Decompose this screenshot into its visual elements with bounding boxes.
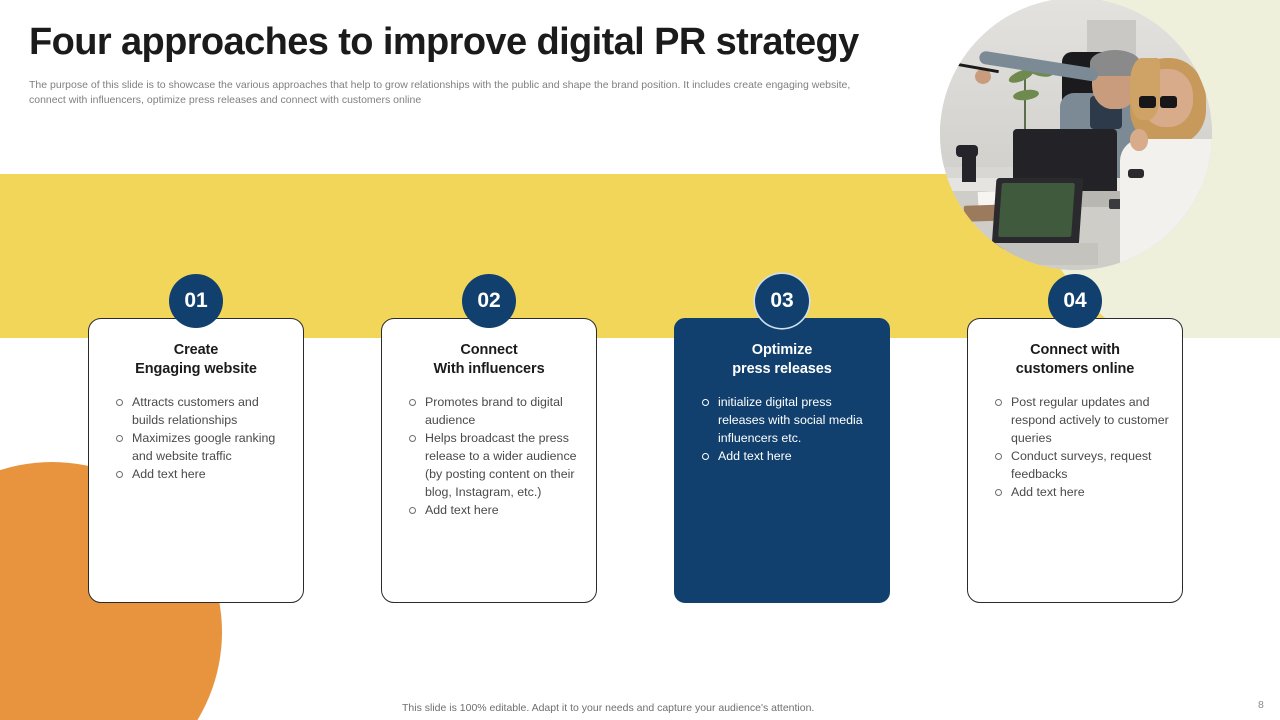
card-title-line1: Optimize — [752, 342, 812, 358]
card-body[interactable]: Connect With influencers Promotes brand … — [381, 318, 597, 603]
card-body[interactable]: Optimize press releases initialize digit… — [674, 318, 890, 603]
card-body[interactable]: Connect with customers online Post regul… — [967, 318, 1183, 603]
card-title-line2: With influencers — [433, 361, 544, 377]
approach-card-1[interactable]: 01 Create Engaging website Attracts cust… — [88, 274, 304, 604]
card-title: Connect With influencers — [394, 341, 584, 379]
list-item: Helps broadcast the press release to a w… — [408, 429, 584, 501]
card-title: Create Engaging website — [101, 341, 291, 379]
card-title-line2: customers online — [1016, 361, 1134, 377]
list-item: Post regular updates and respond activel… — [994, 393, 1170, 447]
card-bullet-list: Post regular updates and respond activel… — [980, 393, 1170, 501]
page-title: Four approaches to improve digital PR st… — [29, 21, 909, 64]
card-title-line2: Engaging website — [135, 361, 257, 377]
list-item: initialize digital press releases with s… — [701, 393, 877, 447]
card-title: Optimize press releases — [687, 341, 877, 379]
list-item: Conduct surveys, request feedbacks — [994, 447, 1170, 483]
card-title: Connect with customers online — [980, 341, 1170, 379]
approach-card-3[interactable]: 03 Optimize press releases initialize di… — [674, 274, 890, 604]
card-number-badge: 02 — [462, 274, 516, 328]
card-number-badge: 04 — [1048, 274, 1102, 328]
footer-note: This slide is 100% editable. Adapt it to… — [402, 702, 814, 714]
card-bullet-list: Promotes brand to digital audience Helps… — [394, 393, 584, 519]
slide-canvas: Four approaches to improve digital PR st… — [0, 0, 1280, 720]
card-number-badge: 01 — [169, 274, 223, 328]
page-subtitle: The purpose of this slide is to showcase… — [29, 78, 879, 108]
approach-cards-row: 01 Create Engaging website Attracts cust… — [0, 0, 1280, 720]
card-number-badge: 03 — [755, 274, 809, 328]
list-item: Attracts customers and builds relationsh… — [115, 393, 291, 429]
list-item: Add text here — [408, 501, 584, 519]
card-title-line2: press releases — [732, 361, 831, 377]
card-body[interactable]: Create Engaging website Attracts custome… — [88, 318, 304, 603]
card-bullet-list: initialize digital press releases with s… — [687, 393, 877, 465]
approach-card-4[interactable]: 04 Connect with customers online Post re… — [967, 274, 1183, 604]
card-bullet-list: Attracts customers and builds relationsh… — [101, 393, 291, 483]
card-title-line1: Create — [174, 342, 219, 358]
list-item: Maximizes google ranking and website tra… — [115, 429, 291, 465]
card-title-line1: Connect with — [1030, 342, 1120, 358]
list-item: Add text here — [701, 447, 877, 465]
approach-card-2[interactable]: 02 Connect With influencers Promotes bra… — [381, 274, 597, 604]
list-item: Promotes brand to digital audience — [408, 393, 584, 429]
list-item: Add text here — [115, 465, 291, 483]
card-title-line1: Connect — [460, 342, 517, 358]
list-item: Add text here — [994, 483, 1170, 501]
page-number: 8 — [1258, 699, 1264, 711]
